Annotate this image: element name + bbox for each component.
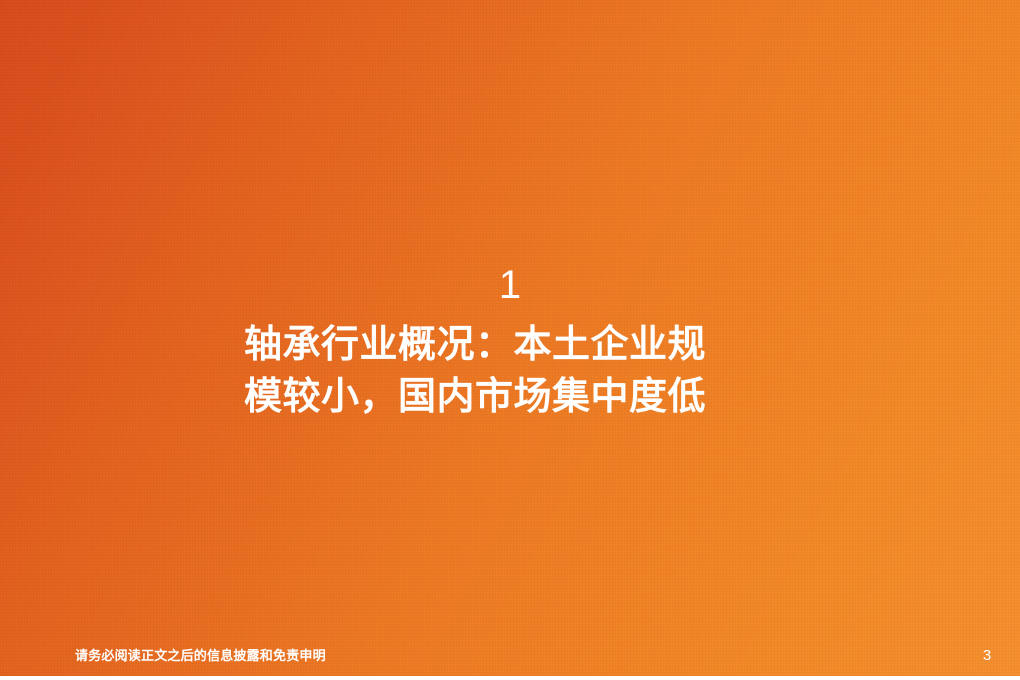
section-heading-block: 1 轴承行业概况：本土企业规 模较小，国内市场集中度低: [244, 262, 776, 422]
page-number: 3: [975, 646, 999, 665]
chapter-number: 1: [244, 262, 776, 308]
section-divider-slide: 1 轴承行业概况：本土企业规 模较小，国内市场集中度低 请务必阅读正文之后的信息…: [0, 0, 1020, 680]
bottom-white-strip: [0, 676, 1020, 680]
footer-disclaimer: 请务必阅读正文之后的信息披露和免责申明: [75, 648, 326, 665]
page-title: 轴承行业概况：本土企业规 模较小，国内市场集中度低: [244, 318, 776, 422]
